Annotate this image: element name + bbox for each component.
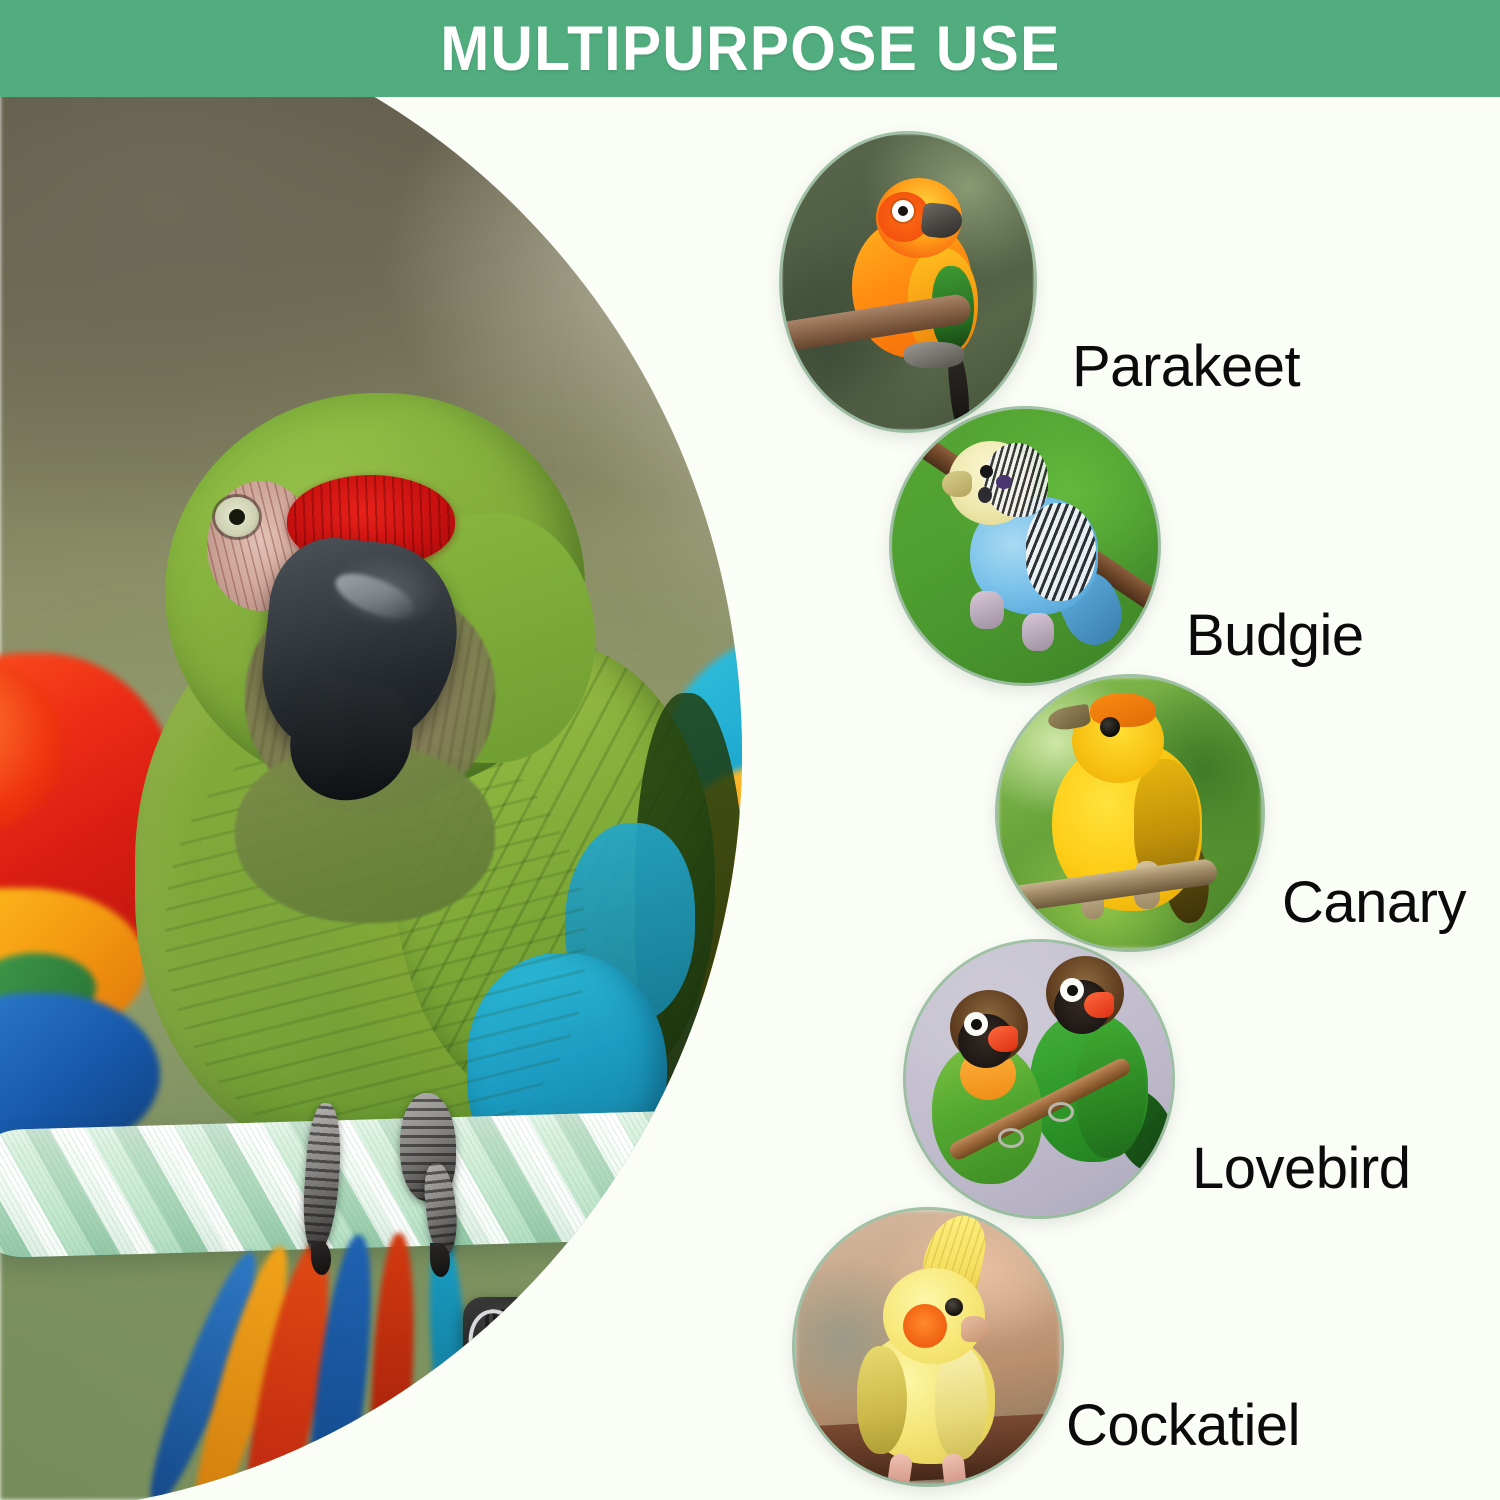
parakeet-wing xyxy=(908,248,978,358)
cockatiel-beak xyxy=(961,1316,989,1342)
lovebird-photo-background xyxy=(906,942,1172,1216)
lovebird-eye-ring xyxy=(964,1012,988,1036)
macaw-claw xyxy=(311,1241,331,1275)
macaw-foot-right xyxy=(400,1093,490,1253)
budgie-cheek-patch xyxy=(996,475,1012,489)
tail-feather xyxy=(364,1232,420,1500)
cockatiel-crest xyxy=(917,1210,992,1305)
bird-photo-canary xyxy=(998,677,1262,949)
feather-tip xyxy=(684,1223,714,1352)
macaw-pupil xyxy=(229,509,245,525)
canary-orange-crown xyxy=(1090,693,1156,727)
lovebird-beak xyxy=(988,1026,1018,1052)
lovebird-head xyxy=(1046,956,1124,1030)
macaw-claw xyxy=(430,1243,450,1277)
canary-eye xyxy=(1100,717,1120,737)
macaw-foot-left xyxy=(305,1103,365,1263)
macaw-toe xyxy=(300,1102,344,1254)
lovebird-face-mask xyxy=(958,1014,1014,1068)
parakeet-bird xyxy=(846,178,986,363)
canary-head xyxy=(1072,699,1164,783)
cockatiel-head xyxy=(883,1268,985,1364)
lovebird-pupil xyxy=(971,1019,982,1030)
bird-photo-cockatiel xyxy=(795,1210,1061,1484)
bird-label-cockatiel: Cockatiel xyxy=(1066,1392,1300,1459)
lovebird-body xyxy=(1030,1012,1148,1162)
parakeet-beak xyxy=(920,202,963,240)
infographic-root: MULTIPURPOSE USE xyxy=(0,0,1500,1500)
macaw-tail-feathers xyxy=(250,1243,610,1500)
stand-strap xyxy=(450,1348,506,1500)
lovebird-face-mask xyxy=(1054,980,1110,1034)
bird-label-canary: Canary xyxy=(1282,869,1466,936)
feather-tip xyxy=(638,1216,671,1357)
budgie-bird xyxy=(940,441,1110,641)
budgie-branch xyxy=(898,424,1158,616)
budgie-tail xyxy=(1049,562,1132,653)
canary-branch xyxy=(998,858,1219,919)
military-macaw xyxy=(95,393,735,1183)
canary-beak xyxy=(1046,704,1091,733)
budgie-body xyxy=(970,497,1098,615)
macaw-toe xyxy=(421,1162,460,1257)
lovebird-branch-ring xyxy=(1048,1102,1074,1122)
canary-bird xyxy=(1038,693,1228,933)
parakeet-green-wing-feathers xyxy=(932,266,974,350)
canary-tail xyxy=(1158,830,1214,925)
parakeet-feet xyxy=(904,342,964,368)
canary-photo-background xyxy=(998,677,1262,949)
parakeet-tail xyxy=(946,347,973,430)
parakeet-head xyxy=(876,178,962,258)
lovebird-branch-ring xyxy=(998,1128,1024,1148)
macaw-teal-feather-tips xyxy=(600,1223,830,1403)
lovebird-tail xyxy=(1099,1078,1172,1182)
bird-label-parakeet: Parakeet xyxy=(1072,333,1300,400)
lovebird-bird-right xyxy=(1024,956,1164,1176)
hero-photo-image xyxy=(0,93,905,1500)
budgie-eye xyxy=(980,465,993,478)
budgie-throat-spot xyxy=(978,487,992,503)
bird-label-budgie: Budgie xyxy=(1186,602,1364,669)
cockatiel-body xyxy=(859,1332,995,1464)
cockatiel-wing xyxy=(857,1346,907,1454)
feather-tip xyxy=(592,1222,634,1344)
parakeet-body xyxy=(852,218,972,358)
blue-gold-macaw-wing xyxy=(850,883,905,1103)
stand-collar xyxy=(503,1437,567,1451)
lovebird-branch xyxy=(947,1056,1133,1163)
budgie-photo-background xyxy=(892,409,1158,683)
cockatiel-orange-cheek-patch xyxy=(903,1304,947,1348)
blue-gold-macaw-face xyxy=(748,823,876,953)
lovebird-eye-ring xyxy=(1060,978,1084,1002)
feather-tip-shadow xyxy=(630,1205,780,1265)
cockatiel-wing xyxy=(935,1346,987,1460)
stand-knob-grip xyxy=(485,1309,549,1381)
lovebird-head xyxy=(950,990,1028,1064)
lovebird-body xyxy=(932,1044,1042,1184)
cockatiel-perch-ledge xyxy=(795,1413,1061,1484)
canary-leg xyxy=(1134,861,1160,909)
budgie-wing-barring xyxy=(1026,503,1096,601)
parakeet-photo-background xyxy=(782,134,1034,430)
canary-wing xyxy=(1134,759,1200,889)
bird-photo-lovebird xyxy=(906,942,1172,1216)
lovebird-wing xyxy=(1076,1028,1146,1158)
parakeet-pupil xyxy=(898,206,908,216)
feather-tip xyxy=(723,1228,762,1340)
budgie-beak xyxy=(942,471,972,497)
perch-mounting-stand xyxy=(455,1291,615,1500)
banner-title: MULTIPURPOSE USE xyxy=(440,13,1060,85)
canary-leg xyxy=(1082,879,1104,919)
cockatiel-bird xyxy=(841,1220,1021,1470)
budgie-head-stripes xyxy=(984,443,1048,517)
lovebird-orange-breast xyxy=(960,1048,1016,1100)
lovebird-beak xyxy=(1084,992,1114,1018)
parakeet-eye-ring xyxy=(892,200,914,222)
budgie-foot xyxy=(970,591,1004,629)
cockatiel-foot xyxy=(887,1453,914,1484)
parakeet-face xyxy=(878,192,930,242)
parakeet-branch xyxy=(782,293,973,362)
bird-label-lovebird: Lovebird xyxy=(1192,1135,1410,1202)
cockatiel-photo-background xyxy=(795,1210,1061,1484)
bird-photo-parakeet xyxy=(782,134,1034,430)
bird-photo-budgie xyxy=(892,409,1158,683)
budgie-head xyxy=(948,441,1034,525)
hero-photo xyxy=(0,93,905,1500)
cockatiel-foot xyxy=(941,1453,966,1484)
budgie-foot xyxy=(1022,613,1054,651)
cockatiel-eye xyxy=(945,1298,963,1316)
stand-pole xyxy=(507,1419,563,1500)
stand-ball-joint xyxy=(491,1369,575,1443)
lovebird-pupil xyxy=(1067,985,1078,996)
canary-body xyxy=(1052,741,1202,911)
header-banner: MULTIPURPOSE USE xyxy=(0,0,1500,97)
lovebird-bird-left xyxy=(928,990,1056,1180)
